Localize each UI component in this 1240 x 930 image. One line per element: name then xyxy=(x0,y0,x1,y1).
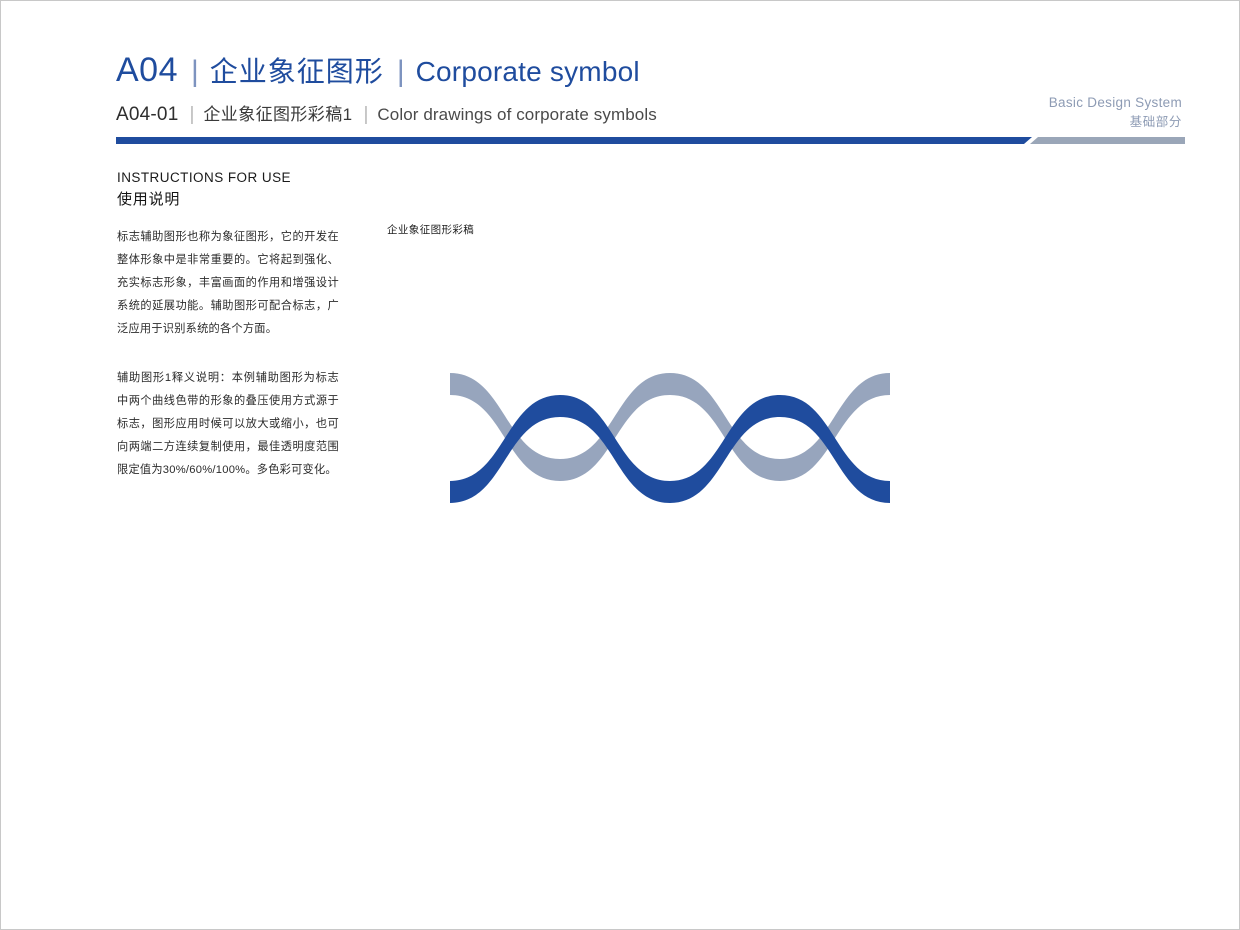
guideline-page: A04 | 企业象征图形 | Corporate symbol A04-01 |… xyxy=(0,0,1240,930)
section-title-en: Corporate symbol xyxy=(416,58,640,86)
header-rule-bar xyxy=(116,137,1185,144)
sub-section-code: A04-01 xyxy=(116,105,178,124)
instructions-block: INSTRUCTIONS FOR USE 使用说明 标志辅助图形也称为象征图形，… xyxy=(117,169,339,494)
corner-label: Basic Design System 基础部分 xyxy=(1049,93,1182,131)
sub-separator-1: | xyxy=(189,105,194,124)
main-title: A04 | 企业象征图形 | Corporate symbol xyxy=(116,53,1186,87)
page-header: A04 | 企业象征图形 | Corporate symbol xyxy=(116,53,1186,87)
rule-bar-blue-segment xyxy=(116,137,1032,144)
section-title-cn: 企业象征图形 xyxy=(210,58,384,86)
instructions-paragraph-2: 辅助图形1释义说明：本例辅助图形为标志中两个曲线色带的形象的叠压使用方式源于标志… xyxy=(117,367,339,483)
rule-bar-gray-segment xyxy=(1030,137,1185,144)
instructions-title-cn: 使用说明 xyxy=(117,190,339,210)
corner-label-cn: 基础部分 xyxy=(1049,113,1182,131)
title-separator-1: | xyxy=(191,57,199,87)
section-code: A04 xyxy=(116,53,178,87)
corporate-symbol-graphic xyxy=(441,363,901,518)
corner-label-en: Basic Design System xyxy=(1049,93,1182,113)
symbol-caption: 企业象征图形彩稿 xyxy=(387,222,474,237)
instructions-paragraph-1: 标志辅助图形也称为象征图形，它的开发在整体形象中是非常重要的。它将起到强化、充实… xyxy=(117,226,339,342)
sub-title: A04-01 | 企业象征图形彩稿1 | Color drawings of c… xyxy=(116,105,657,124)
title-separator-2: | xyxy=(397,57,405,87)
sub-separator-2: | xyxy=(363,105,368,124)
sub-section-title-en: Color drawings of corporate symbols xyxy=(377,106,656,123)
instructions-title-en: INSTRUCTIONS FOR USE xyxy=(117,169,339,187)
sub-section-title-cn: 企业象征图形彩稿1 xyxy=(203,106,352,123)
